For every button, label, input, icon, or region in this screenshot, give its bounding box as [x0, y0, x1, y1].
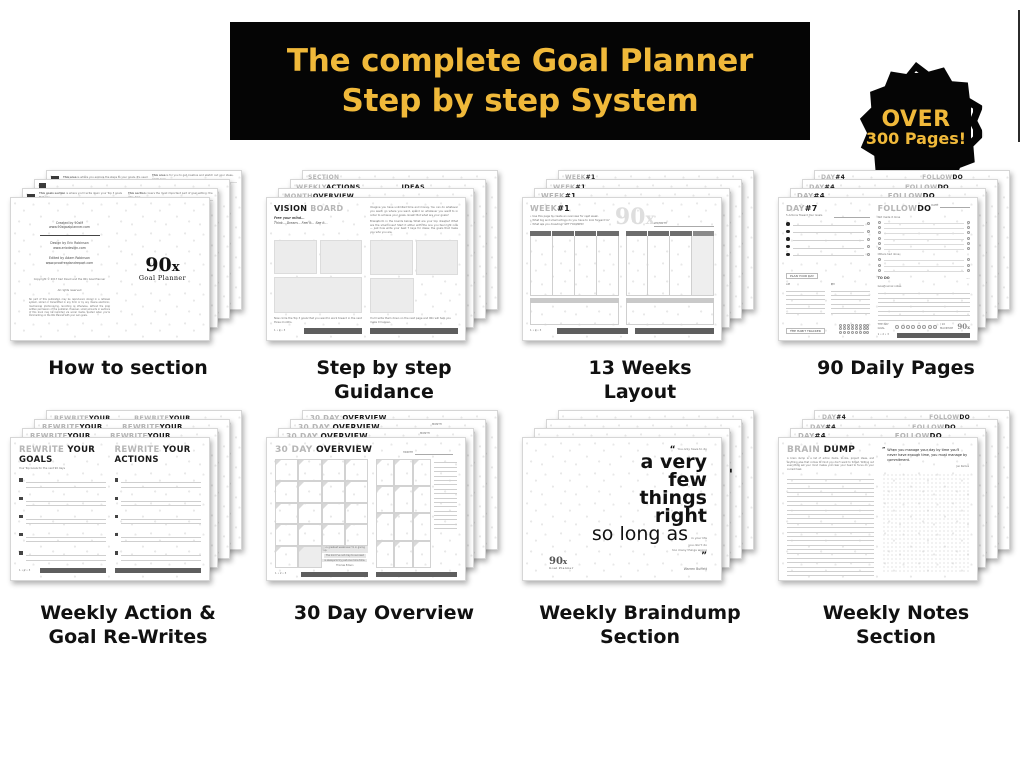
right-edge-rule [1018, 10, 1020, 142]
poster-canvas: The complete Goal Planner Step by step S… [0, 0, 1024, 773]
section-card-weekly-notes-section[interactable]: DAY#4FOLLOWDO DAY#4FOLLOWDO DAY#4FOLLOWD… [768, 408, 1024, 678]
sheet-front-daily-spread: DAY#7 5 Actions Toward Your Goals [778, 197, 978, 341]
section-card-13-weeks-layout[interactable]: WEEK#1 WEEK#1 WEEK#1 90x WEEK#1 • Use th… [512, 168, 768, 408]
sheet-front-rewrite-spread: REWRITE YOUR GOALS Your Top Goals for th… [10, 437, 210, 581]
brand-logo: 90x Goal Planner [139, 256, 186, 281]
section-card-30-day-overview[interactable]: 30 DAY OVERVIEW 30 DAY OVERVIEWMONTH 30 … [256, 408, 512, 678]
sheet-front-brain-dump: BRAIN DUMP A brain dump is a list of act… [778, 437, 978, 581]
brand-logo-sub: Goal Planner [139, 275, 186, 281]
section-label-weekly-notes-section: Weekly Notes Section [771, 601, 1021, 649]
sheet-stack-weekly-action-goal-rewrites: REWRITEYOUR GOALSREWRITEYOUR ACTIONS REW… [8, 408, 248, 593]
section-label-weekly-action-goal-rewrites: Weekly Action & Goal Re-Writes [3, 601, 253, 649]
sheet-stack-weekly-braindump-section: gs t gs t “ You only have to do a very f… [520, 408, 760, 593]
sheet-stack-13-weeks-layout: WEEK#1 WEEK#1 WEEK#1 90x WEEK#1 • Use th… [520, 168, 760, 348]
section-card-90-daily-pages[interactable]: DAY#4FOLLOWDO DAY#4FOLLOWDO DAY#4FOLLOWD… [768, 168, 1024, 408]
section-label-step-by-step-guidance: Step by step Guidance [259, 356, 509, 404]
sheet-front-month-overview: 30 DAY OVERVIEW MONTH [266, 437, 466, 581]
section-label-how-to-section: How to section [3, 356, 253, 380]
badge-line-pages: 300 Pages! [866, 131, 966, 148]
sheet-stack-90-daily-pages: DAY#4FOLLOWDO DAY#4FOLLOWDO DAY#4FOLLOWD… [776, 168, 1016, 348]
sheet-front-vision-board: VISION BOARD Free your mind... Think... … [266, 197, 466, 341]
section-label-90-daily-pages: 90 Daily Pages [771, 356, 1021, 380]
badge-line-over: OVER [881, 108, 950, 131]
section-label-30-day-overview: 30 Day Overview [259, 601, 509, 625]
section-card-weekly-action-goal-rewrites[interactable]: REWRITEYOUR GOALSREWRITEYOUR ACTIONS REW… [0, 408, 256, 678]
sheet-front-quote-page: “ You only have to do a very few things … [522, 437, 722, 581]
sheet-stack-step-by-step-guidance: SECTION WEEKLYACTIONSIDEAS MONTHOVERVIEW… [264, 168, 504, 348]
title-line-1: The complete Goal Planner [287, 41, 753, 81]
product-preview-grid: This area is where you explore the steps… [0, 168, 1024, 678]
title-banner: The complete Goal Planner Step by step S… [230, 22, 810, 140]
sheet-front-title-page: Created by 90xMwww.90xgoalplanner.com De… [10, 197, 210, 341]
title-line-2: Step by step System [342, 81, 699, 121]
section-card-step-by-step-guidance[interactable]: SECTION WEEKLYACTIONSIDEAS MONTHOVERVIEW… [256, 168, 512, 408]
sheet-stack-how-to-section: This area is where you explore the steps… [8, 168, 248, 348]
section-label-13-weeks-layout: 13 Weeks Layout [515, 356, 765, 404]
sheet-stack-weekly-notes-section: DAY#4FOLLOWDO DAY#4FOLLOWDO DAY#4FOLLOWD… [776, 408, 1016, 593]
section-label-weekly-braindump-section: Weekly Braindump Section [515, 601, 765, 649]
section-card-weekly-braindump-section[interactable]: gs t gs t “ You only have to do a very f… [512, 408, 768, 678]
section-card-how-to-section[interactable]: This area is where you explore the steps… [0, 168, 256, 408]
sheet-front-week-spread: 90x WEEK#1 • Use this page to create an … [522, 197, 722, 341]
sheet-stack-30-day-overview: 30 DAY OVERVIEW 30 DAY OVERVIEWMONTH 30 … [264, 408, 504, 593]
